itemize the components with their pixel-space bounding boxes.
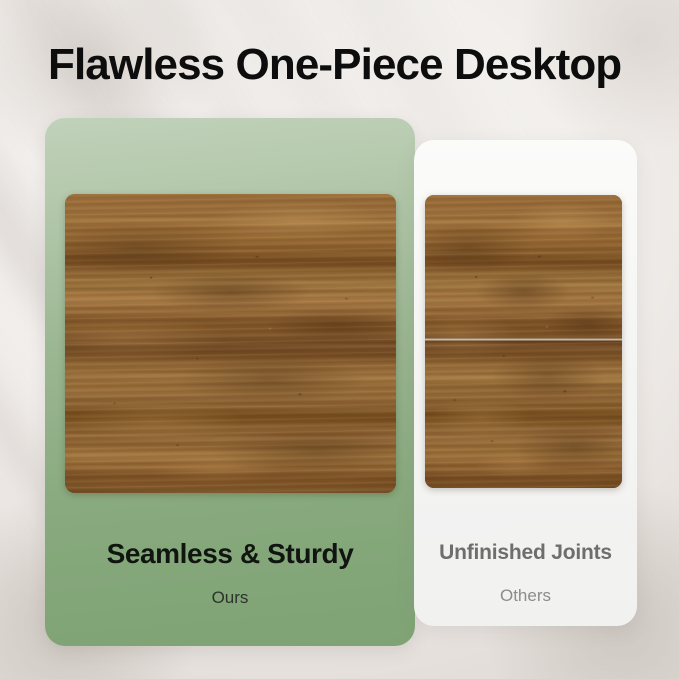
card-sublabel-others: Others xyxy=(414,586,637,606)
wood-edge-shading xyxy=(425,195,622,488)
page-title: Flawless One-Piece Desktop xyxy=(48,40,648,90)
product-image-ours xyxy=(65,194,396,493)
card-sublabel-ours: Ours xyxy=(45,588,415,608)
wood-edge-shading xyxy=(65,194,396,493)
product-comparison-graphic: Flawless One-Piece Desktop Seamless & St… xyxy=(0,0,679,679)
product-image-others xyxy=(425,195,622,488)
card-headline-others: Unfinished Joints xyxy=(414,541,637,565)
card-headline-ours: Seamless & Sturdy xyxy=(45,538,415,570)
